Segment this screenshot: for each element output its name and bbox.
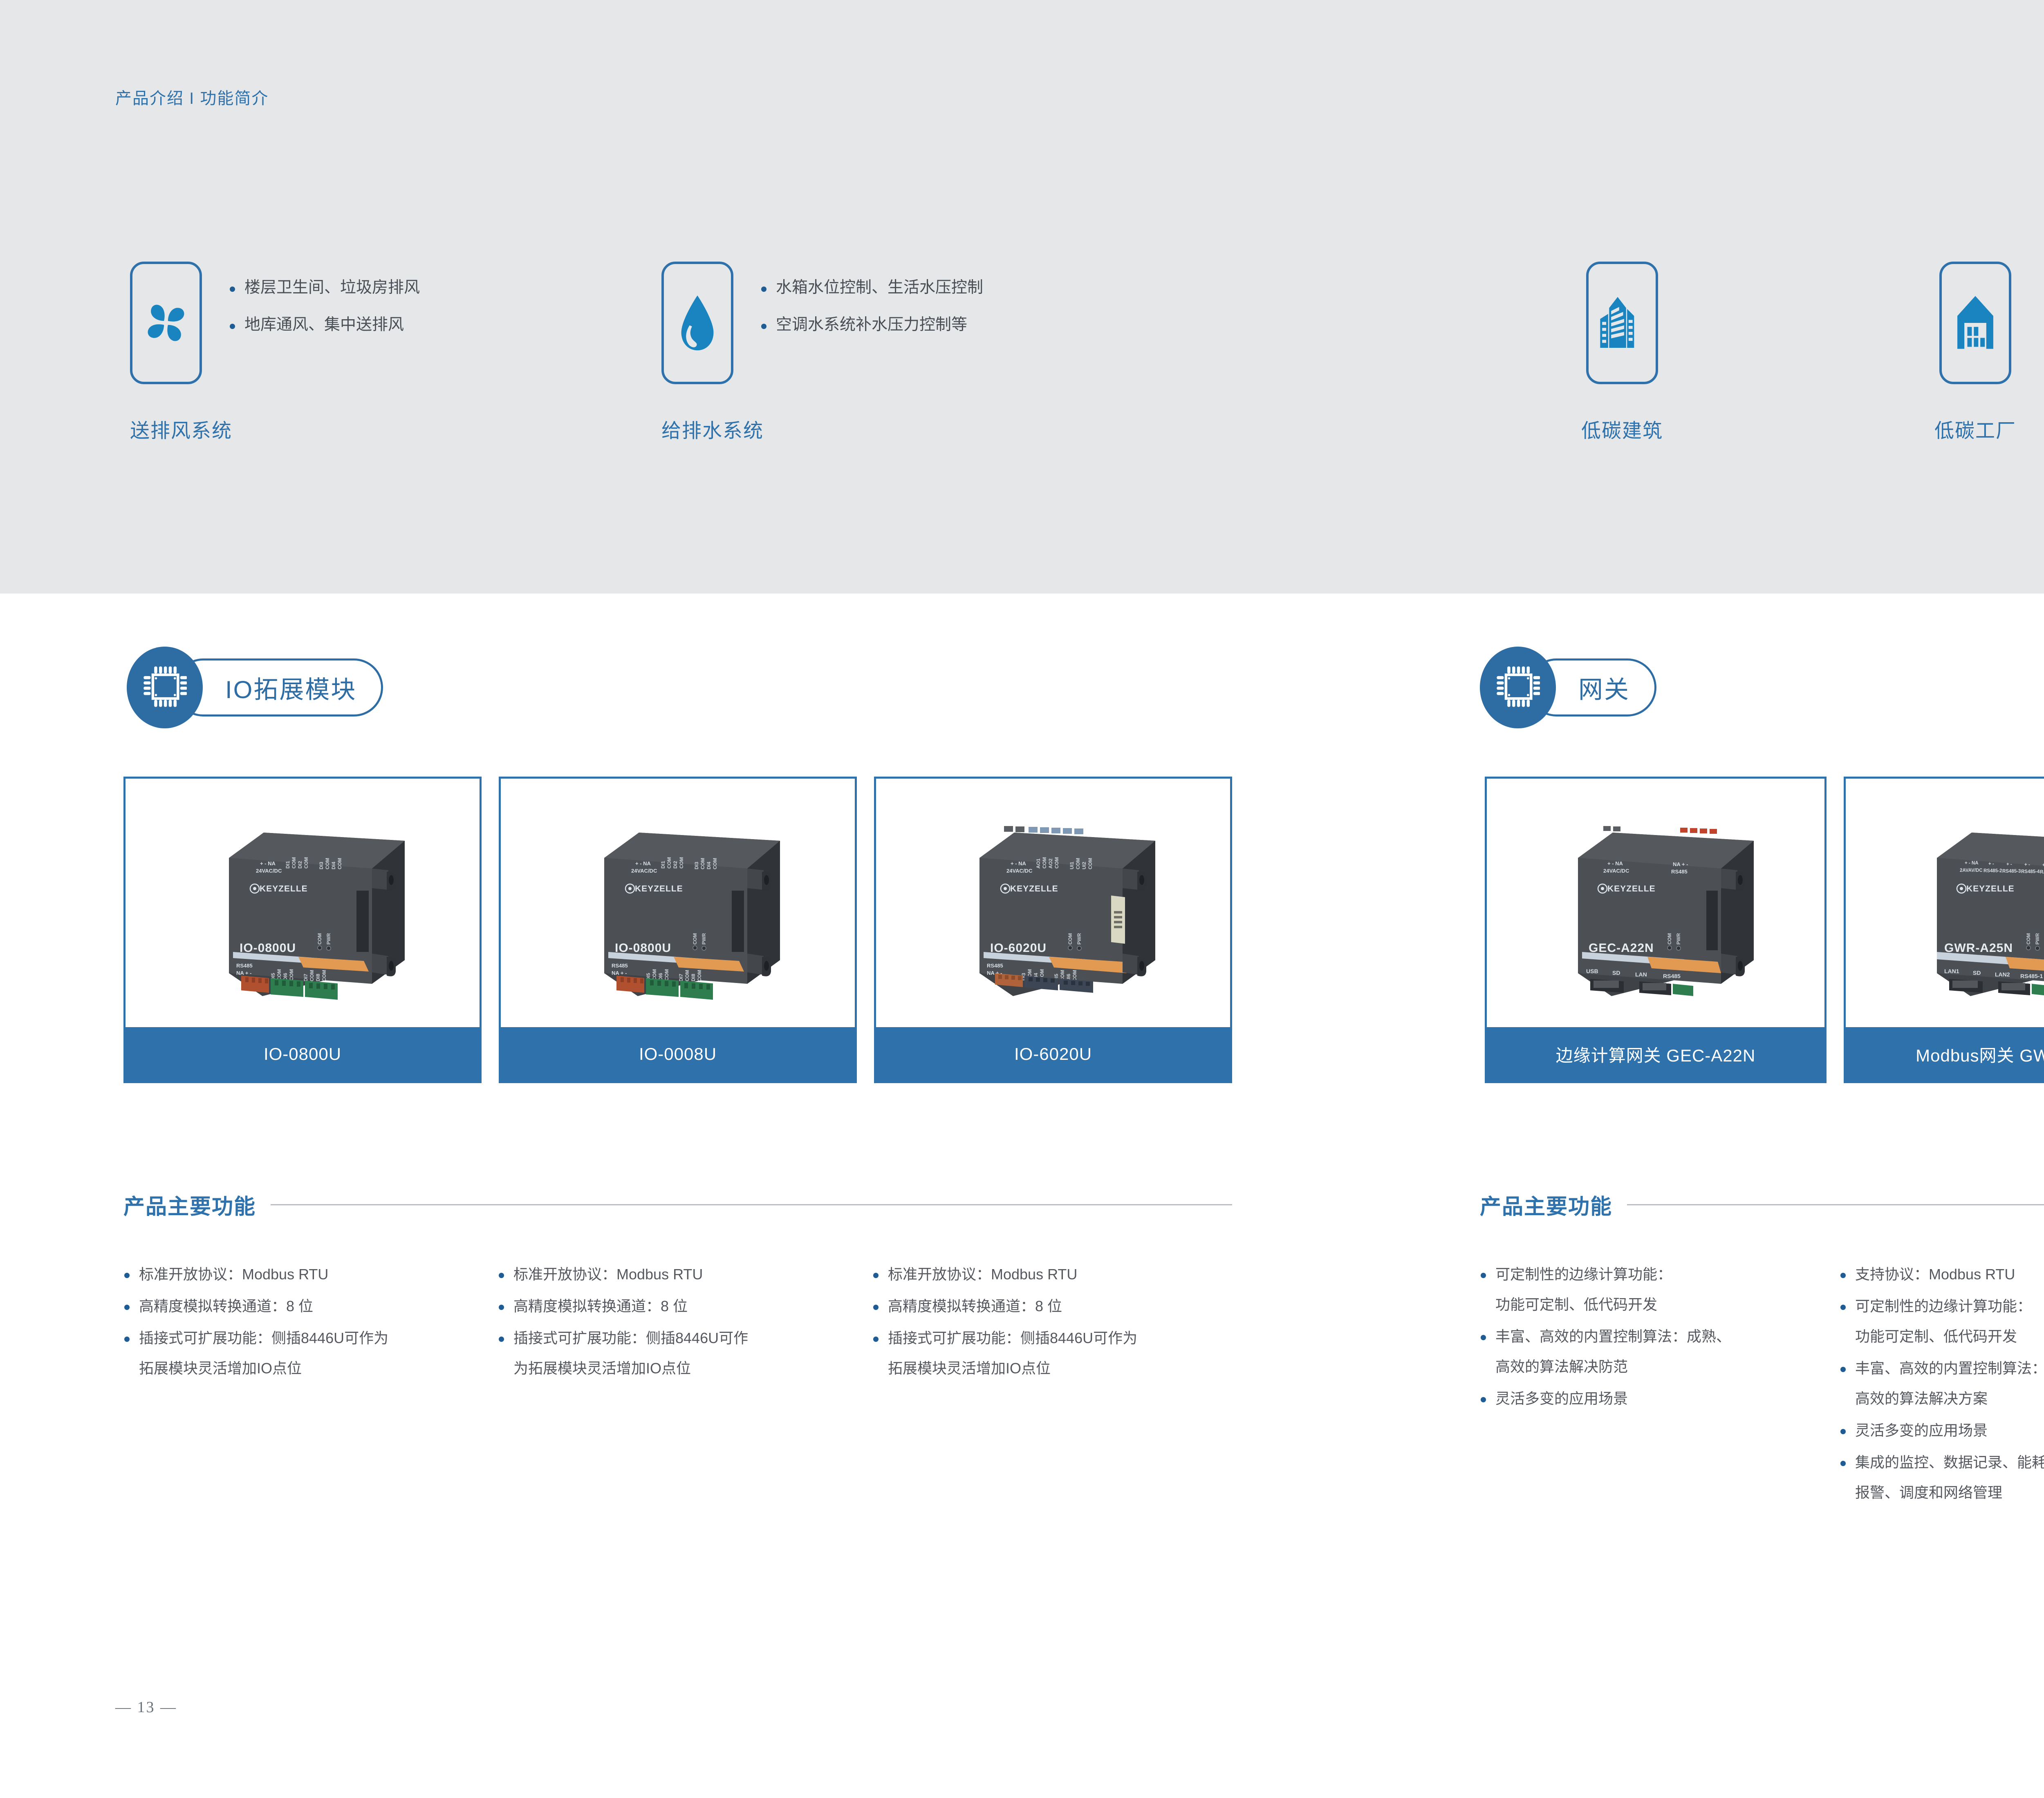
features-heading-text: 产品主要功能 <box>123 1189 256 1220</box>
svg-text:COM: COM <box>700 858 706 869</box>
svg-text:COM: COM <box>1042 857 1047 869</box>
running-head-left: 产品介绍 I 功能简介 <box>115 85 269 109</box>
svg-text:24VAC/DC: 24VAC/DC <box>1006 868 1033 874</box>
list-item: 灵活多变的应用场景 <box>1840 1423 2044 1438</box>
svg-text:AO1: AO1 <box>1035 858 1041 869</box>
list-item: 灵活多变的应用场景 <box>1480 1391 1823 1406</box>
svg-text:COM: COM <box>2026 933 2031 945</box>
svg-text:PWR: PWR <box>1676 933 1681 945</box>
svg-text:+ -: + - <box>2042 863 2044 868</box>
svg-text:DI1: DI1 <box>660 861 666 869</box>
product-photo: + - NA + - + - + - + - 2AVAV/DC RS485-2 … <box>1846 779 2044 1027</box>
fan-icon-frame <box>130 262 202 384</box>
list-item-continuation: 为拓展模块灵活增加IO点位 <box>513 1361 854 1376</box>
water-bullet-list: 水箱水位控制、生活水压控制 空调水系统补水压力控制等 <box>760 262 983 333</box>
product-caption: 边缘计算网关 GEC-A22N <box>1487 1027 1824 1081</box>
chip-icon <box>143 664 187 712</box>
svg-text:DI4: DI4 <box>706 862 712 869</box>
svg-text:GEC-A22N: GEC-A22N <box>1589 941 1654 955</box>
svg-text:24VAC/DC: 24VAC/DC <box>256 868 282 874</box>
svg-text:DI7: DI7 <box>303 974 309 981</box>
heading-rule <box>1627 1204 2044 1205</box>
svg-text:COM: COM <box>317 933 323 945</box>
water-caption: 给排水系统 <box>661 414 983 443</box>
product-card-gwr-a25n[interactable]: + - NA + - + - + - + - 2AVAV/DC RS485-2 … <box>1844 777 2044 1083</box>
svg-text:DI7: DI7 <box>678 974 684 981</box>
svg-text:COM: COM <box>712 858 718 869</box>
svg-text:+ -: + - <box>1988 862 1994 867</box>
svg-text:COM: COM <box>697 970 702 981</box>
svg-text:RS485-2: RS485-2 <box>1983 869 2002 873</box>
list-item: 可定制性的边缘计算功能：功能可定制、低代码开发 <box>1840 1299 2044 1344</box>
svg-text:+ - NA: + - NA <box>1965 861 1979 866</box>
svg-text:COM: COM <box>289 969 294 981</box>
list-item-continuation: 拓展模块灵活增加IO点位 <box>888 1361 1228 1376</box>
svg-text:RS485: RS485 <box>236 963 253 969</box>
svg-text:NA + -: NA + - <box>612 970 627 976</box>
fan-icon <box>141 298 191 348</box>
list-item: 地库通风、集中送排风 <box>228 317 420 333</box>
office-building-icon <box>1597 294 1647 352</box>
section-title-pill-io-modules: IO拓展模块 <box>174 658 383 717</box>
svg-text:NA + -: NA + - <box>1673 861 1688 867</box>
list-item: 标准开放协议：Modbus RTU <box>498 1267 854 1282</box>
application-system-ventilation: 楼层卫生间、垃圾房排风 地库通风、集中送排风 送排风系统 <box>130 262 420 443</box>
list-item: 支持协议：Modbus RTU <box>1840 1267 2044 1282</box>
product-card-io-6020u[interactable]: + - NA 24VAC/DC AO1 COM AO2 COM UI1 COM … <box>874 777 1232 1083</box>
product-photo: + - NA 24VAC/DC DI1 COM DI2 COM DI3 COM … <box>501 779 855 1027</box>
water-drop-icon <box>675 293 719 353</box>
svg-text:COM: COM <box>303 857 309 869</box>
device-image-gwr-a25n: + - NA + - + - + - + - 2AVAV/DC RS485-2 … <box>1876 788 2044 1017</box>
svg-text:+ - NA: + - NA <box>1011 860 1026 867</box>
list-item-continuation: 高效的算法解决方案 <box>1855 1391 2044 1406</box>
feature-column-io-1: 标准开放协议：Modbus RTU 高精度模拟转换通道：8 位 插接式可扩展功能… <box>123 1267 479 1376</box>
svg-text:COM: COM <box>325 858 330 869</box>
brochure-page: 产品介绍 I 功能简介 产品介绍 I 功能简介 <box>0 0 2044 1798</box>
svg-text:RS485: RS485 <box>987 963 1003 969</box>
device-image-gec-a22n: + - NA 24VAC/DC NA + - RS485 KEYZELLE GE… <box>1517 788 1795 1017</box>
list-item-continuation: 报警、调度和网络管理 <box>1855 1485 2044 1500</box>
product-caption: IO-0800U <box>126 1027 480 1081</box>
svg-text:+ -: + - <box>2006 862 2012 867</box>
product-caption-text: IO-6020U <box>1014 1044 1092 1064</box>
svg-text:RS485: RS485 <box>1663 973 1681 979</box>
svg-text:COM: COM <box>1087 858 1093 869</box>
svg-text:COM: COM <box>309 970 315 981</box>
list-item: 空调水系统补水压力控制等 <box>760 317 983 333</box>
list-item: 插接式可扩展功能：侧插8446U可作为拓展模块灵活增加IO点位 <box>872 1331 1228 1376</box>
svg-text:LAN1: LAN1 <box>1944 968 1959 974</box>
svg-text:PWR: PWR <box>326 933 332 945</box>
low-carbon-building: 低碳建筑 <box>1581 262 1663 443</box>
svg-text:USB: USB <box>1586 968 1598 974</box>
page-number-left: — 13 — <box>115 1698 177 1716</box>
svg-text:SD: SD <box>1973 970 1981 976</box>
list-item: 高精度模拟转换通道：8 位 <box>123 1299 479 1314</box>
svg-text:DI8: DI8 <box>690 974 696 981</box>
product-photo: + - NA 24VAC/DC DI1 COM DI2 COM DI3 COM … <box>126 779 480 1027</box>
product-photo: + - NA 24VAC/DC NA + - RS485 KEYZELLE GE… <box>1487 779 1824 1027</box>
svg-text:KEYZELLE: KEYZELLE <box>1010 884 1058 893</box>
list-item-continuation: 拓展模块灵活增加IO点位 <box>139 1361 479 1376</box>
features-heading-text: 产品主要功能 <box>1480 1189 1612 1220</box>
svg-text:SD: SD <box>1612 970 1620 976</box>
product-caption-text: 边缘计算网关 GEC-A22N <box>1556 1042 1756 1067</box>
svg-text:COM: COM <box>679 857 684 869</box>
product-card-gec-a22n[interactable]: + - NA 24VAC/DC NA + - RS485 KEYZELLE GE… <box>1485 777 1827 1083</box>
svg-text:COM: COM <box>337 858 343 869</box>
svg-text:DI3: DI3 <box>694 862 699 869</box>
list-item: 高精度模拟转换通道：8 位 <box>498 1299 854 1314</box>
ventilation-bullet-list: 楼层卫生间、垃圾房排风 地库通风、集中送排风 <box>228 262 420 333</box>
svg-text:COM: COM <box>1075 858 1081 869</box>
svg-text:DI1: DI1 <box>285 861 291 869</box>
list-item-continuation: 高效的算法解决防范 <box>1495 1359 1823 1374</box>
device-image-io-6020u: + - NA 24VAC/DC AO1 COM AO2 COM UI1 COM … <box>910 788 1196 1017</box>
svg-text:+ -: + - <box>2024 862 2030 867</box>
svg-text:RA485-5: RA485-5 <box>2040 870 2044 875</box>
list-item: 水箱水位控制、生活水压控制 <box>760 280 983 296</box>
svg-text:IO-6020U: IO-6020U <box>990 941 1047 955</box>
svg-text:PWR: PWR <box>2035 933 2040 945</box>
list-item: 标准开放协议：Modbus RTU <box>123 1267 479 1282</box>
factory-icon-frame <box>1939 262 2011 384</box>
list-item: 插接式可扩展功能：侧插8446U可作为拓展模块灵活增加IO点位 <box>498 1331 854 1376</box>
svg-text:IO-0800U: IO-0800U <box>615 941 671 955</box>
svg-text:2AVAV/DC: 2AVAV/DC <box>1960 868 1983 873</box>
section-title-gateways: 网关 <box>1578 670 1630 705</box>
section-header-io-modules: IO拓展模块 <box>127 647 383 728</box>
low-carbon-building-caption: 低碳建筑 <box>1581 414 1663 443</box>
svg-text:COM: COM <box>291 857 297 869</box>
svg-text:RS485-1: RS485-1 <box>2020 973 2043 979</box>
svg-text:NA + -: NA + - <box>236 970 251 976</box>
low-carbon-factory-caption: 低碳工厂 <box>1934 414 2016 443</box>
chip-icon-badge <box>127 647 203 728</box>
svg-text:KEYZELLE: KEYZELLE <box>1607 884 1656 893</box>
product-caption-text: Modbus网关 GWR-A25N <box>1916 1042 2044 1067</box>
water-drop-icon-frame <box>661 262 733 384</box>
features-heading-io-modules: 产品主要功能 <box>123 1189 1232 1220</box>
svg-text:KEYZELLE: KEYZELLE <box>260 884 308 893</box>
product-card-io-0008u[interactable]: + - NA 24VAC/DC DI1 COM DI2 COM DI3 COM … <box>499 777 857 1083</box>
list-item: 丰富、高效的内置控制算法：成熟、高效的算法解决方案 <box>1840 1361 2044 1406</box>
svg-text:KEYZELLE: KEYZELLE <box>1966 884 2015 893</box>
feature-column-io-2: 标准开放协议：Modbus RTU 高精度模拟转换通道：8 位 插接式可扩展功能… <box>498 1267 854 1376</box>
svg-text:DI2: DI2 <box>672 861 678 869</box>
chip-icon-badge <box>1480 647 1556 728</box>
svg-text:24VAC/DC: 24VAC/DC <box>631 868 657 874</box>
feature-column-gw-2: 支持协议：Modbus RTU 可定制性的边缘计算功能：功能可定制、低代码开发 … <box>1840 1267 2044 1500</box>
features-heading-gateways: 产品主要功能 <box>1480 1189 2044 1220</box>
device-image-io-0008u: + - NA 24VAC/DC DI1 COM DI2 COM DI3 COM … <box>535 788 821 1017</box>
list-item: 楼层卫生间、垃圾房排风 <box>228 280 420 296</box>
svg-text:RS485-4: RS485-4 <box>2021 869 2040 874</box>
section-header-gateways: 网关 <box>1480 647 1656 728</box>
factory-icon <box>1950 294 2000 352</box>
svg-text:RS485: RS485 <box>1671 869 1688 875</box>
svg-text:+ - NA: + - NA <box>1607 860 1623 867</box>
low-carbon-factory: 低碳工厂 <box>1934 262 2016 443</box>
chip-icon <box>1496 664 1540 712</box>
device-image-io-0800u: + - NA 24VAC/DC DI1 COM DI2 COM DI3 COM … <box>159 788 446 1017</box>
svg-text:COM: COM <box>321 970 327 981</box>
list-item: 丰富、高效的内置控制算法：成熟、高效的算法解决防范 <box>1480 1329 1823 1374</box>
svg-text:COM: COM <box>1667 933 1672 945</box>
svg-text:RS485: RS485 <box>612 963 628 969</box>
svg-text:COM: COM <box>684 970 690 981</box>
svg-text:DI2: DI2 <box>297 861 303 869</box>
svg-text:24VAC/DC: 24VAC/DC <box>1603 868 1629 874</box>
feature-column-io-3: 标准开放协议：Modbus RTU 高精度模拟转换通道：8 位 插接式可扩展功能… <box>872 1267 1228 1376</box>
heading-rule <box>271 1204 1232 1205</box>
svg-text:KEYZELLE: KEYZELLE <box>635 884 683 893</box>
svg-text:+ - NA: + - NA <box>260 860 276 867</box>
svg-text:COM: COM <box>1054 857 1060 869</box>
application-system-water: 水箱水位控制、生活水压控制 空调水系统补水压力控制等 给排水系统 <box>661 262 983 443</box>
ventilation-caption: 送排风系统 <box>130 414 420 443</box>
list-item: 可定制性的边缘计算功能： 功能可定制、低代码开发 <box>1480 1267 1823 1312</box>
svg-text:DI8: DI8 <box>315 974 321 981</box>
list-item: 标准开放协议：Modbus RTU <box>872 1267 1228 1282</box>
product-photo: + - NA 24VAC/DC AO1 COM AO2 COM UI1 COM … <box>876 779 1230 1027</box>
svg-text:COM: COM <box>1067 933 1073 945</box>
list-item: 插接式可扩展功能：侧插8446U可作为拓展模块灵活增加IO点位 <box>123 1331 479 1376</box>
office-building-icon-frame <box>1586 262 1658 384</box>
svg-text:IO-0800U: IO-0800U <box>240 941 296 955</box>
svg-text:COM: COM <box>664 969 670 981</box>
svg-text:+ - NA: + - NA <box>635 860 651 867</box>
svg-text:UI2: UI2 <box>1081 862 1087 869</box>
svg-text:COM: COM <box>692 933 698 945</box>
product-caption: Modbus网关 GWR-A25N <box>1846 1027 2044 1081</box>
svg-text:DI4: DI4 <box>331 862 336 869</box>
svg-text:RS485-3: RS485-3 <box>2002 869 2021 874</box>
svg-text:COM: COM <box>666 857 672 869</box>
svg-text:PWR: PWR <box>1076 933 1082 945</box>
section-title-io-modules: IO拓展模块 <box>225 670 356 705</box>
feature-column-gw-1: 可定制性的边缘计算功能： 功能可定制、低代码开发 丰富、高效的内置控制算法：成熟… <box>1480 1267 1823 1406</box>
product-caption: IO-0008U <box>501 1027 855 1081</box>
product-caption-text: IO-0008U <box>639 1044 717 1064</box>
svg-text:AO2: AO2 <box>1048 858 1053 869</box>
list-item: 集成的监控、数据记录、能耗计量、报警、调度和网络管理 <box>1840 1455 2044 1500</box>
list-item-continuation: 功能可定制、低代码开发 <box>1495 1297 1823 1312</box>
svg-text:LAN2: LAN2 <box>1995 971 2010 978</box>
svg-text:GWR-A25N: GWR-A25N <box>1944 941 2013 955</box>
list-item-continuation: 功能可定制、低代码开发 <box>1855 1329 2044 1344</box>
svg-text:LAN: LAN <box>1635 971 1647 978</box>
product-caption-text: IO-0800U <box>264 1044 341 1064</box>
svg-text:UI1: UI1 <box>1069 862 1075 869</box>
product-caption: IO-6020U <box>876 1027 1230 1081</box>
list-item: 高精度模拟转换通道：8 位 <box>872 1299 1228 1314</box>
svg-text:DI3: DI3 <box>318 862 324 869</box>
svg-text:PWR: PWR <box>701 933 707 945</box>
product-card-io-0800u[interactable]: + - NA 24VAC/DC DI1 COM DI2 COM DI3 COM … <box>123 777 482 1083</box>
